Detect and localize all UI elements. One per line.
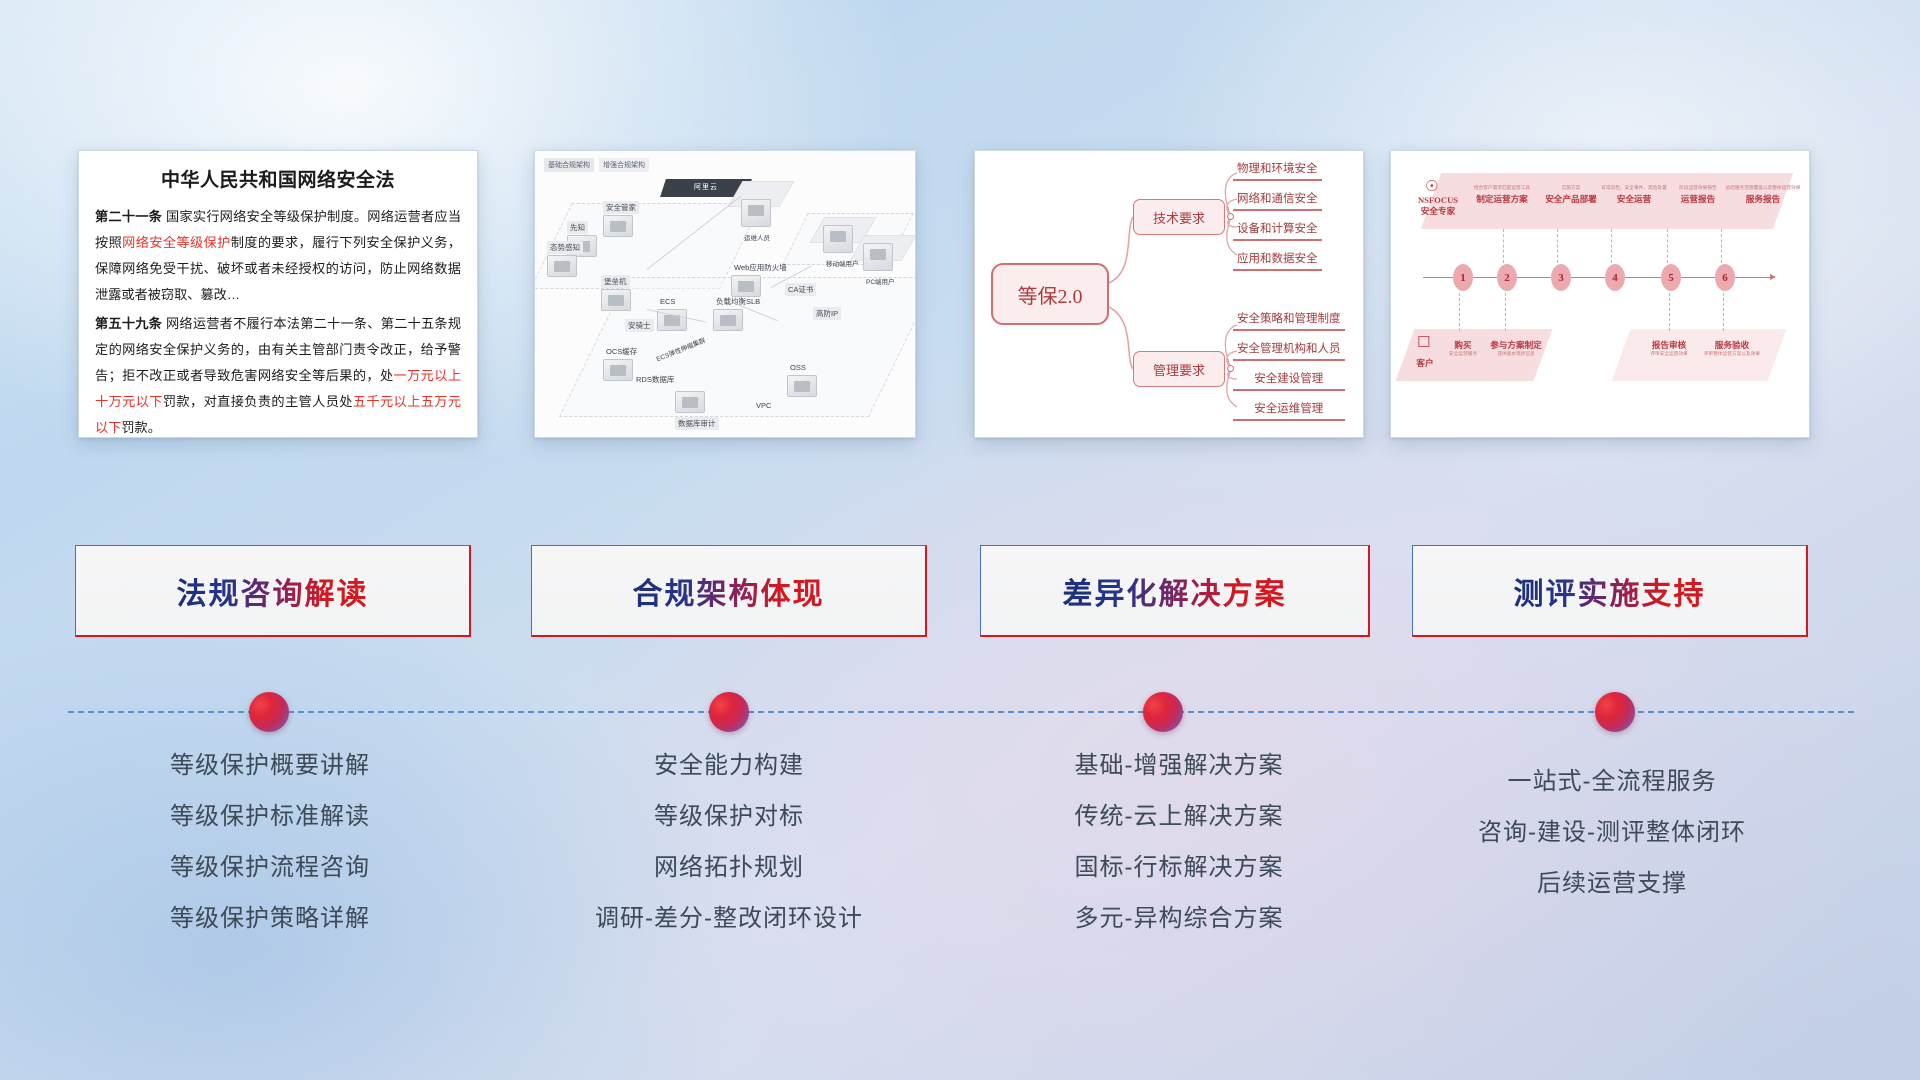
- architecture-node-label: ECS: [657, 296, 678, 307]
- card-cybersecurity-law[interactable]: 中华人民共和国网络安全法 第二十一条 国家实行网络安全等级保护制度。网络运营者应…: [78, 150, 478, 438]
- law-run-highlight: 网络安全等级保护: [122, 235, 231, 250]
- architecture-node-label: 态势感知: [547, 241, 583, 254]
- architecture-tabs: 基础合规架构 增强合规架构: [544, 158, 649, 172]
- step-caption: 购买: [1441, 339, 1485, 351]
- architecture-node-数据库审计: 数据库审计: [675, 391, 719, 431]
- architecture-node-label: CA证书: [785, 283, 816, 296]
- bullet-item: 等级保护标准解读: [70, 791, 470, 842]
- customer-role: 客户: [1407, 357, 1443, 369]
- step-sub: 评审安全运营效果: [1641, 351, 1697, 357]
- bullet-item: 网络拓扑规划: [525, 842, 933, 893]
- bullet-item: 多元-异构综合方案: [975, 893, 1383, 944]
- architecture-node-态势感知: 态势感知: [547, 237, 583, 277]
- mindmap-leaf[interactable]: 物理和环境安全: [1233, 159, 1322, 181]
- architecture-node-icon: [713, 309, 743, 331]
- architecture-node-label: 负载均衡SLB: [713, 295, 763, 308]
- step-sub: 结合客户需求匹配运营工具: [1467, 185, 1537, 191]
- architecture-node-label: 高防IP: [813, 307, 841, 320]
- section-title-label: 差异化解决方案: [1063, 569, 1287, 613]
- card-nsfocus-service-flow[interactable]: ☉ NSFOCUS 安全专家 结合客户需求匹配运营工具 制定运营方案 实施方案 …: [1390, 150, 1810, 438]
- architecture-node-RDS数据库: RDS数据库: [633, 369, 677, 387]
- bullet-column-2: 安全能力构建 等级保护对标 网络拓扑规划 调研-差分-整改闭环设计: [525, 740, 933, 944]
- step-sub: 安全运营服务: [1441, 351, 1485, 357]
- section-title-box-1[interactable]: 法规咨询解读: [75, 545, 471, 637]
- service-flow-node-6[interactable]: 6: [1715, 264, 1735, 291]
- service-flow-dash: [1459, 293, 1460, 331]
- section-title-label: 合规架构体现: [633, 569, 825, 613]
- service-flow-bottom-step-3: 报告审核 评审安全运营效果: [1641, 339, 1697, 359]
- mindmap-leaves-management: 安全策略和管理制度 安全管理机构和人员 安全建设管理 安全运维管理: [1233, 309, 1345, 429]
- law-article-number: 第二十一条: [95, 209, 162, 224]
- architecture-node-VPC: VPC: [753, 395, 774, 413]
- architecture-node-label: Web应用防火墙: [731, 261, 790, 274]
- vendor-role: 安全专家: [1409, 205, 1467, 217]
- timeline-dot-4[interactable]: [1595, 692, 1635, 732]
- step-sub: 阶段运营效果报告: [1663, 185, 1733, 191]
- service-flow-diagram: ☉ NSFOCUS 安全专家 结合客户需求匹配运营工具 制定运营方案 实施方案 …: [1391, 151, 1809, 437]
- bullet-item: 后续运营支撑: [1408, 858, 1816, 909]
- timeline-dot-3[interactable]: [1143, 692, 1183, 732]
- architecture-node-label: 移动端用户: [823, 257, 862, 269]
- architecture-node-OSS: OSS: [787, 357, 817, 397]
- service-flow-dash: [1723, 293, 1724, 331]
- architecture-node-安全管家: 安全管家: [603, 197, 639, 237]
- mindmap-branch-management[interactable]: 管理要求: [1133, 351, 1225, 387]
- architecture-node-label: OSS: [787, 362, 809, 373]
- bullet-item: 等级保护策略详解: [70, 893, 470, 944]
- architecture-node-label: 先知: [567, 221, 588, 234]
- mindmap-branch-technical[interactable]: 技术要求: [1133, 199, 1225, 235]
- timeline-connector: [0, 692, 1920, 732]
- bullet-item: 传统-云上解决方案: [975, 791, 1383, 842]
- service-flow-dash: [1721, 229, 1722, 263]
- architecture-node-CA证书: CA证书: [785, 279, 816, 297]
- step-sub: 总结服务范围覆盖以及整体运营效果: [1725, 185, 1801, 191]
- architecture-node-label: VPC: [753, 400, 774, 411]
- architecture-node-安骑士: 安骑士: [625, 315, 654, 333]
- bullet-item: 咨询-建设-测评整体闭环: [1408, 807, 1816, 858]
- bullet-item: 等级保护概要讲解: [70, 740, 470, 791]
- expert-avatar-icon: ☉: [1425, 177, 1438, 195]
- architecture-node-icon: [547, 255, 577, 277]
- timeline-dashed-line: [68, 711, 1854, 713]
- step-caption: 安全运营: [1601, 193, 1667, 205]
- section-title-row: 法规咨询解读 合规架构体现 差异化解决方案 测评实施支持: [0, 545, 1920, 641]
- service-flow-dash: [1505, 293, 1506, 331]
- architecture-node-label: 安全管家: [603, 201, 639, 214]
- architecture-tab-enhanced[interactable]: 增强合规架构: [599, 158, 649, 172]
- step-caption: 运营报告: [1663, 193, 1733, 205]
- service-flow-node-1[interactable]: 1: [1453, 264, 1473, 291]
- service-flow-node-3[interactable]: 3: [1551, 264, 1571, 291]
- service-flow-top-step-3: 日常巡检、安全事件、高危处置 安全运营: [1601, 185, 1667, 205]
- architecture-diagram: 基础合规架构 增强合规架构 阿里云 安全管家 先知 态: [535, 151, 915, 437]
- mindmap-leaf[interactable]: 网络和通信安全: [1233, 189, 1322, 211]
- architecture-node-label: PC端用户: [863, 275, 898, 287]
- bullet-item: 等级保护对标: [525, 791, 933, 842]
- thumbnail-card-row: 中华人民共和国网络安全法 第二十一条 国家实行网络安全等级保护制度。网络运营者应…: [0, 150, 1920, 440]
- bullet-item: 调研-差分-整改闭环设计: [525, 893, 933, 944]
- bullet-item: 安全能力构建: [525, 740, 933, 791]
- architecture-node-堡垒机: 堡垒机: [601, 271, 631, 311]
- section-title-box-4[interactable]: 测评实施支持: [1412, 545, 1808, 637]
- bullet-column-3: 基础-增强解决方案 传统-云上解决方案 国标-行标解决方案 多元-异构综合方案: [975, 740, 1383, 944]
- service-flow-top-step-2: 实施方案 安全产品部署: [1537, 185, 1605, 205]
- architecture-node-label: 数据库审计: [675, 417, 719, 430]
- mindmap-leaf[interactable]: 安全运维管理: [1233, 399, 1345, 421]
- service-flow-actor-vendor: NSFOCUS 安全专家: [1409, 195, 1467, 217]
- law-run: 罚款，对直接负责的主管人员处: [163, 394, 353, 409]
- step-caption: 制定运营方案: [1467, 193, 1537, 205]
- bullet-item: 等级保护流程咨询: [70, 842, 470, 893]
- service-flow-actor-customer: 客户: [1407, 357, 1443, 369]
- service-flow-node-4[interactable]: 4: [1605, 264, 1625, 291]
- step-caption: 报告审核: [1641, 339, 1697, 351]
- section-title-box-3[interactable]: 差异化解决方案: [980, 545, 1370, 637]
- step-caption: 参与方案制定: [1485, 339, 1547, 351]
- section-title-box-2[interactable]: 合规架构体现: [531, 545, 927, 637]
- architecture-node-高防IP: 高防IP: [813, 303, 841, 321]
- service-flow-node-2[interactable]: 2: [1497, 264, 1517, 291]
- law-title: 中华人民共和国网络安全法: [95, 165, 461, 192]
- bullet-column-1: 等级保护概要讲解 等级保护标准解读 等级保护流程咨询 等级保护策略详解: [70, 740, 470, 944]
- law-paragraph-21: 第二十一条 国家实行网络安全等级保护制度。网络运营者应当按照网络安全等级保护制度…: [95, 204, 461, 308]
- step-caption: 服务验收: [1701, 339, 1763, 351]
- bullet-item: 一站式-全流程服务: [1408, 756, 1816, 807]
- law-body: 中华人民共和国网络安全法 第二十一条 国家实行网络安全等级保护制度。网络运营者应…: [79, 151, 477, 438]
- timeline-dot-1[interactable]: [249, 692, 289, 732]
- mindmap-leaf[interactable]: 安全策略和管理制度: [1233, 309, 1345, 331]
- architecture-node-label: OCS缓存: [603, 345, 640, 358]
- architecture-node-label: 堡垒机: [601, 275, 630, 288]
- architecture-node-PC端用户: PC端用户: [863, 243, 898, 289]
- step-caption: 安全产品部署: [1537, 193, 1605, 205]
- architecture-node-ECS: ECS: [657, 291, 687, 331]
- step-sub: 日常巡检、安全事件、高危处置: [1601, 185, 1667, 191]
- architecture-node-运维人员: 运维人员: [741, 199, 773, 245]
- section-title-label: 法规咨询解读: [177, 569, 369, 613]
- step-sub: 提供基本现状信息: [1485, 351, 1547, 357]
- law-paragraph-59: 第五十九条 网络运营者不履行本法第二十一条、第二十五条规定的网络安全保护义务的，…: [95, 311, 461, 438]
- architecture-node-icon: [823, 225, 853, 253]
- architecture-node-icon: [675, 391, 705, 413]
- law-run: 罚款。: [121, 420, 161, 435]
- service-flow-dash: [1667, 229, 1668, 263]
- mindmap-leaf[interactable]: 安全管理机构和人员: [1233, 339, 1345, 361]
- bullet-column-4: 一站式-全流程服务 咨询-建设-测评整体闭环 后续运营支撑: [1408, 756, 1816, 909]
- step-caption: 服务报告: [1725, 193, 1801, 205]
- card-mindmap-dengbao[interactable]: 等保2.0 技术要求 物理和环境安全 网络和通信安全 设备和计算安全 应用和数据…: [974, 150, 1364, 438]
- mindmap-leaves-technical: 物理和环境安全 网络和通信安全 设备和计算安全 应用和数据安全: [1233, 159, 1322, 279]
- law-article-number: 第五十九条: [95, 316, 162, 331]
- architecture-node-icon: [741, 199, 771, 227]
- service-flow-dash: [1611, 229, 1612, 263]
- architecture-node-icon: [601, 289, 631, 311]
- bullet-item: 基础-增强解决方案: [975, 740, 1383, 791]
- architecture-node-icon: [863, 243, 893, 271]
- architecture-node-icon: [787, 375, 817, 397]
- service-flow-top-step-4: 阶段运营效果报告 运营报告: [1663, 185, 1733, 205]
- step-sub: 评审整体运营方案以及效果: [1701, 351, 1763, 357]
- mindmap-leaf[interactable]: 安全建设管理: [1233, 369, 1345, 391]
- architecture-node-icon: [603, 359, 633, 381]
- service-flow-dash: [1503, 229, 1504, 263]
- mindmap-leaf[interactable]: 设备和计算安全: [1233, 219, 1322, 241]
- timeline-dot-2[interactable]: [709, 692, 749, 732]
- section-title-label: 测评实施支持: [1514, 569, 1706, 613]
- architecture-node-移动端用户: 移动端用户: [823, 225, 862, 271]
- service-flow-bottom-step-1: 购买 安全运营服务: [1441, 339, 1485, 359]
- service-flow-dash: [1669, 293, 1670, 331]
- card-cloud-architecture[interactable]: 基础合规架构 增强合规架构 阿里云 安全管家 先知 态: [534, 150, 916, 438]
- bullet-column-row: 等级保护概要讲解 等级保护标准解读 等级保护流程咨询 等级保护策略详解 安全能力…: [0, 740, 1920, 960]
- architecture-node-label: 运维人员: [741, 231, 773, 243]
- service-flow-node-5[interactable]: 5: [1661, 264, 1681, 291]
- architecture-node-icon: [603, 215, 633, 237]
- bullet-item: 国标-行标解决方案: [975, 842, 1383, 893]
- service-flow-dash: [1557, 229, 1558, 263]
- architecture-node-label: RDS数据库: [633, 373, 677, 386]
- architecture-node-label: 安骑士: [625, 319, 654, 332]
- mindmap: 等保2.0 技术要求 物理和环境安全 网络和通信安全 设备和计算安全 应用和数据…: [975, 151, 1363, 437]
- architecture-tab-basic[interactable]: 基础合规架构: [544, 158, 594, 172]
- vendor-name: NSFOCUS: [1409, 195, 1467, 205]
- service-flow-top-step-1: 结合客户需求匹配运营工具 制定运营方案: [1467, 185, 1537, 205]
- service-flow-bottom-step-2: 参与方案制定 提供基本现状信息: [1485, 339, 1547, 359]
- service-flow-top-step-5: 总结服务范围覆盖以及整体运营效果 服务报告: [1725, 185, 1801, 205]
- service-flow-bottom-step-4: 服务验收 评审整体运营方案以及效果: [1701, 339, 1763, 359]
- mindmap-leaf[interactable]: 应用和数据安全: [1233, 249, 1322, 271]
- customer-avatar-icon: ☐: [1417, 333, 1430, 351]
- step-sub: 实施方案: [1537, 185, 1605, 191]
- mindmap-root-node[interactable]: 等保2.0: [991, 263, 1109, 325]
